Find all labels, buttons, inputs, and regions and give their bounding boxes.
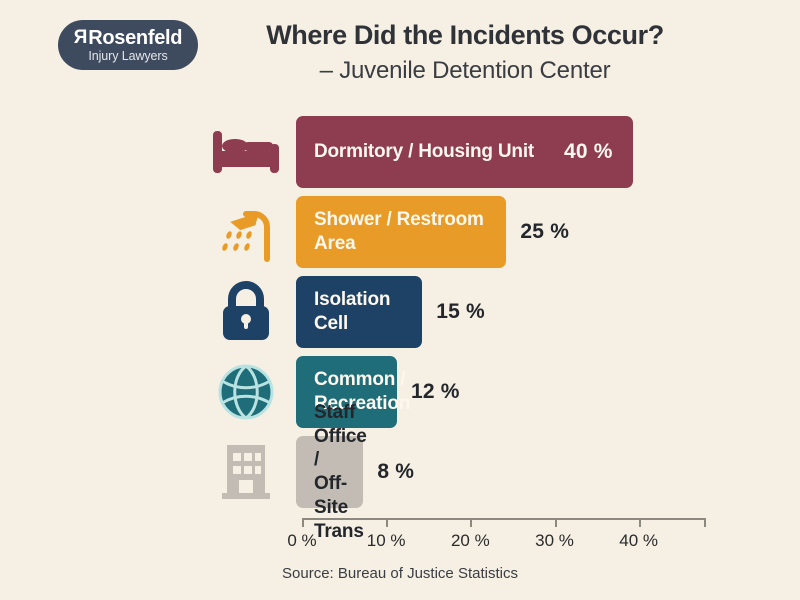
bed-icon <box>196 116 296 188</box>
axis-tick <box>302 518 304 527</box>
building-icon <box>196 436 296 508</box>
bar-value-label: 40 % <box>564 140 613 164</box>
axis-tick-label: 0 % <box>287 531 316 551</box>
chart-row: Isolation Cell15 % <box>196 273 485 351</box>
bar-value-label: 15 % <box>436 300 485 324</box>
axis-tick-label: 10 % <box>367 531 406 551</box>
axis-tick <box>639 518 641 527</box>
axis-tick <box>386 518 388 527</box>
bar-label: Isolation Cell <box>314 288 404 336</box>
bar-value-label: 8 % <box>377 460 414 484</box>
chart-row: Shower / Restroom Area25 % <box>196 193 569 271</box>
header: RRosenfeld Injury Lawyers Where Did the … <box>0 0 800 105</box>
bar-value-label: 12 % <box>411 380 460 404</box>
chart-row: Dormitory / Housing Unit40 % <box>196 113 633 191</box>
bar-value-label: 25 % <box>520 220 569 244</box>
brand-logo[interactable]: RRosenfeld Injury Lawyers <box>58 20 198 70</box>
bar-segment[interactable]: Dormitory / Housing Unit40 % <box>296 116 633 188</box>
axis-tick <box>470 518 472 527</box>
bar-chart: Dormitory / Housing Unit40 %Shower / Res… <box>0 105 800 525</box>
basketball-icon <box>196 356 296 428</box>
page-title: Where Did the Incidents Occur? <box>215 20 715 51</box>
axis-end-tick <box>704 518 706 527</box>
axis-tick-label: 30 % <box>535 531 574 551</box>
bar-label: Shower / Restroom Area <box>314 208 488 256</box>
shower-icon <box>196 196 296 268</box>
logo-name: Rosenfeld <box>88 28 182 48</box>
axis-tick-label: 40 % <box>619 531 658 551</box>
page-subtitle: – Juvenile Detention Center <box>215 57 715 85</box>
axis-line <box>302 518 706 520</box>
bar-label: Dormitory / Housing Unit <box>314 140 534 164</box>
padlock-icon <box>196 276 296 348</box>
bar-segment[interactable]: Shower / Restroom Area <box>296 196 506 268</box>
logo-wordmark: RRosenfeld <box>74 28 182 48</box>
axis-tick-label: 20 % <box>451 531 490 551</box>
chart-row: Staff Office / Off-Site Trans8 % <box>196 433 414 511</box>
bar-segment[interactable]: Staff Office / Off-Site Trans <box>296 436 363 508</box>
x-axis: 0 %10 %20 %30 %40 % <box>0 518 800 558</box>
source-note: Source: Bureau of Justice Statistics <box>0 565 800 582</box>
logo-tagline: Injury Lawyers <box>88 50 167 63</box>
logo-mark-icon: R <box>74 28 87 47</box>
bar-segment[interactable]: Isolation Cell <box>296 276 422 348</box>
axis-tick <box>555 518 557 527</box>
